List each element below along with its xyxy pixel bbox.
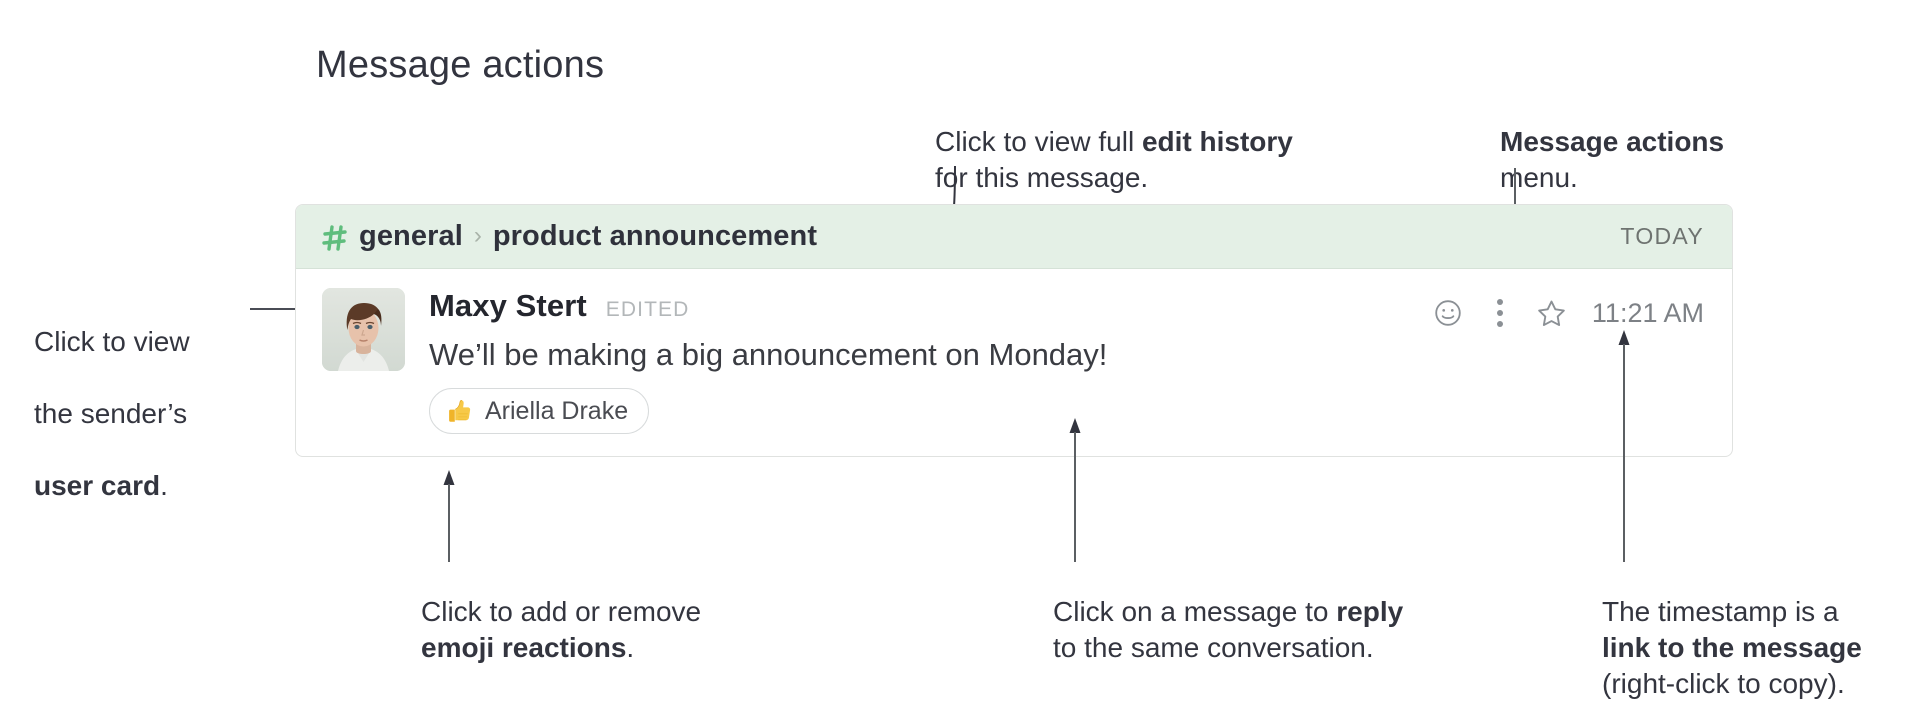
annotation-actions-menu-bold: Message actions <box>1500 126 1724 157</box>
annotation-reply: Click on a message to reply to the same … <box>1053 558 1453 666</box>
annotation-emoji-reactions-pre: Click to add or remove <box>421 596 701 627</box>
message-text[interactable]: We’ll be making a big announcement on Mo… <box>429 336 1704 374</box>
page-title: Message actions <box>316 44 604 87</box>
annotation-reply-pre: Click on a message to <box>1053 596 1336 627</box>
annotation-timestamp-bold: link to the message <box>1602 632 1862 663</box>
edited-tag[interactable]: EDITED <box>606 298 690 322</box>
annotation-edit-history-bold: edit history <box>1142 126 1293 157</box>
stream-name[interactable]: general <box>359 220 463 253</box>
message-actions-bar: 11:21 AM <box>1422 293 1704 333</box>
topic-name[interactable]: product announcement <box>493 220 817 253</box>
sender-name[interactable]: Maxy Stert <box>429 288 587 324</box>
annotation-reply-bold: reply <box>1336 596 1403 627</box>
card-header: general › product announcement TODAY <box>296 205 1732 269</box>
hash-icon <box>322 224 348 252</box>
connector-timestamp <box>1611 330 1641 562</box>
reaction-pill[interactable]: Ariella Drake <box>429 388 649 434</box>
message-body: Maxy Stert EDITED We’ll be making a big … <box>296 269 1732 434</box>
connector-reply <box>1062 418 1092 562</box>
emoji-reaction-icon[interactable] <box>1422 293 1474 333</box>
thumbs-up-emoji <box>445 397 473 425</box>
message-actions-menu-icon[interactable] <box>1474 293 1526 333</box>
connector-emoji-reactions <box>436 470 466 562</box>
annotation-emoji-reactions-post: . <box>626 632 634 663</box>
vertical-dots <box>1497 299 1503 327</box>
breadcrumb[interactable]: general › product announcement <box>322 220 1620 253</box>
annotation-timestamp-post: (right-click to copy). <box>1602 668 1845 699</box>
annotation-user-card-bold: user card <box>34 470 160 501</box>
annotation-emoji-reactions-bold: emoji reactions <box>421 632 626 663</box>
avatar[interactable] <box>322 288 405 371</box>
annotation-actions-menu: Message actions menu. <box>1500 88 1800 196</box>
breadcrumb-separator-icon: › <box>474 224 482 248</box>
message-timestamp-link[interactable]: 11:21 AM <box>1592 298 1704 329</box>
annotation-emoji-reactions: Click to add or remove emoji reactions. <box>421 558 781 666</box>
star-icon[interactable] <box>1526 293 1578 333</box>
annotation-user-card: Click to view the sender’s user card. <box>34 288 264 504</box>
annotation-user-card-tail: . <box>160 470 168 501</box>
message-card: general › product announcement TODAY <box>295 204 1733 457</box>
reaction-label: Ariella Drake <box>485 397 628 426</box>
annotation-timestamp: The timestamp is a link to the message (… <box>1602 558 1922 702</box>
date-label: TODAY <box>1620 223 1704 250</box>
annotation-user-card-line2: the sender’s <box>34 398 187 429</box>
annotation-reply-post: to the same conversation. <box>1053 632 1374 663</box>
annotation-user-card-line1: Click to view <box>34 326 190 357</box>
annotation-timestamp-pre: The timestamp is a <box>1602 596 1839 627</box>
